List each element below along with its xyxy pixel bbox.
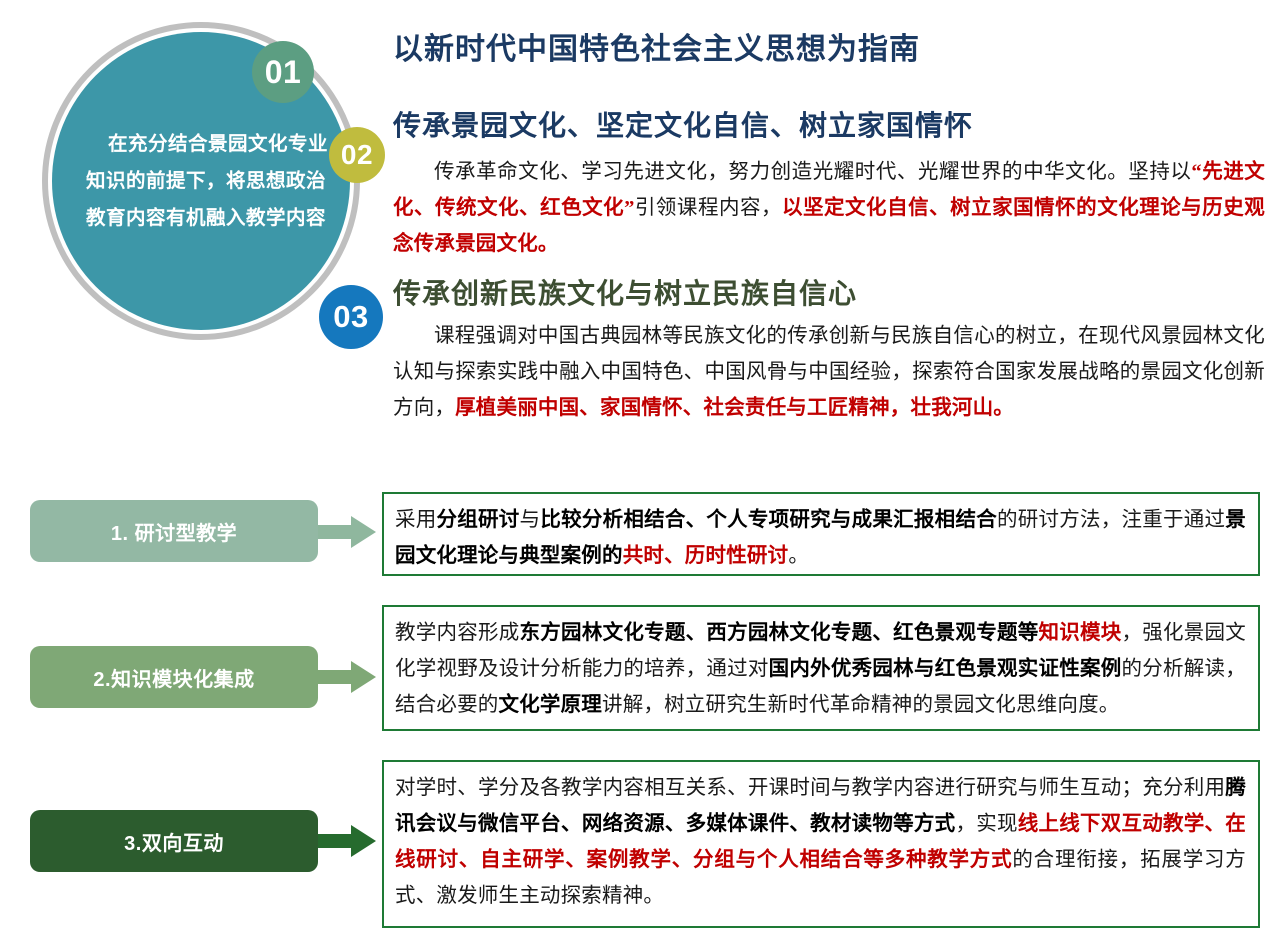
info-box-2-seg-0: 教学内容形成 [395, 622, 520, 644]
info-box-3-text: 对学时、学分及各教学内容相互关系、开课时间与教学内容进行研究与师生互动；充分利用… [395, 770, 1246, 914]
info-box-1-seg-3: 比较分析相结合、个人专项研究与成果汇报相结合 [540, 509, 997, 531]
info-box-3-seg-0: 对学时、学分及各教学内容相互关系、开课时间与教学内容进行研究与师生互动；充分利用 [395, 777, 1225, 799]
badge-01: 01 [252, 41, 314, 103]
pill-knowledge-modules[interactable]: 2.知识模块化集成 [30, 646, 318, 708]
circle-cluster: 在充分结合景园文化专业知识的前提下，将思想政治教育内容有机融入教学内容 01 0… [42, 22, 372, 352]
badge-03-label: 03 [333, 299, 368, 335]
badge-01-label: 01 [265, 54, 302, 91]
top-section: 在充分结合景园文化专业知识的前提下，将思想政治教育内容有机融入教学内容 01 0… [0, 0, 1280, 480]
info-box-1-seg-7: 。 [788, 545, 809, 567]
badge-02: 02 [329, 127, 385, 183]
info-box-1-seg-1: 分组研讨 [437, 509, 520, 531]
para2-seg3: 引领课程内容， [635, 197, 782, 219]
heading-guideline: 以新时代中国特色社会主义思想为指南 [393, 30, 1265, 70]
info-box-2-seg-2: 知识模块 [1038, 622, 1121, 644]
info-box-2-seg-6: 文化学原理 [499, 694, 603, 716]
top-text-column: 以新时代中国特色社会主义思想为指南 传承景园文化、坚定文化自信、树立家国情怀 传… [393, 30, 1265, 426]
badge-03: 03 [319, 285, 383, 349]
bottom-section: 1. 研讨型教学 采用分组研讨与比较分析相结合、个人专项研究与成果汇报相结合的研… [0, 488, 1280, 950]
info-box-knowledge-modules: 教学内容形成东方园林文化专题、西方园林文化专题、红色景观专题等知识模块，强化景园… [382, 605, 1260, 731]
arrow-1 [318, 516, 380, 548]
heading-culture-confidence: 传承景园文化、坚定文化自信、树立家国情怀 [393, 108, 1265, 144]
pill-3-label: 3.双向互动 [124, 827, 224, 856]
para3-seg2-red: 厚植美丽中国、家国情怀、社会责任与工匠精神，壮我河山。 [455, 397, 1014, 419]
info-box-2-seg-1: 东方园林文化专题、西方园林文化专题、红色景观专题等 [520, 622, 1039, 644]
info-box-2-seg-7: 讲解，树立研究生新时代革命精神的景园文化思维向度。 [602, 694, 1120, 716]
pill-seminar-teaching[interactable]: 1. 研讨型教学 [30, 500, 318, 562]
info-box-two-way-interaction: 对学时、学分及各教学内容相互关系、开课时间与教学内容进行研究与师生互动；充分利用… [382, 760, 1260, 928]
info-box-1-seg-6: 共时、历时性研讨 [623, 545, 789, 567]
info-box-1-seg-4: 的研讨方法，注重于通过 [997, 509, 1225, 531]
info-box-1-seg-2: 与 [520, 509, 541, 531]
paragraph-national-culture: 课程强调对中国古典园林等民族文化的传承创新与民族自信心的树立，在现代风景园林文化… [393, 318, 1265, 426]
pill-2-label: 2.知识模块化集成 [93, 663, 254, 692]
paragraph-culture-confidence: 传承革命文化、学习先进文化，努力创造光耀时代、光耀世界的中华文化。坚持以“先进文… [393, 154, 1265, 262]
circle-caption: 在充分结合景园文化专业知识的前提下，将思想政治教育内容有机融入教学内容 [52, 126, 350, 237]
badge-02-label: 02 [341, 139, 373, 171]
pill-1-label: 1. 研讨型教学 [111, 517, 237, 546]
info-box-3-seg-2: ，实现 [955, 813, 1017, 835]
info-box-2-seg-4: 国内外优秀园林与红色景观实证性案例 [769, 658, 1122, 680]
para2-seg1: 传承革命文化、学习先进文化，努力创造光耀时代、光耀世界的中华文化。坚持以 [434, 161, 1191, 183]
arrow-2 [318, 661, 380, 693]
arrow-3 [318, 825, 380, 857]
info-box-1-text: 采用分组研讨与比较分析相结合、个人专项研究与成果汇报相结合的研讨方法，注重于通过… [395, 502, 1246, 574]
info-box-seminar-teaching: 采用分组研讨与比较分析相结合、个人专项研究与成果汇报相结合的研讨方法，注重于通过… [382, 492, 1260, 576]
pill-two-way-interaction[interactable]: 3.双向互动 [30, 810, 318, 872]
info-box-2-text: 教学内容形成东方园林文化专题、西方园林文化专题、红色景观专题等知识模块，强化景园… [395, 615, 1246, 723]
heading-national-culture: 传承创新民族文化与树立民族自信心 [393, 276, 1265, 312]
info-box-1-seg-0: 采用 [395, 509, 437, 531]
